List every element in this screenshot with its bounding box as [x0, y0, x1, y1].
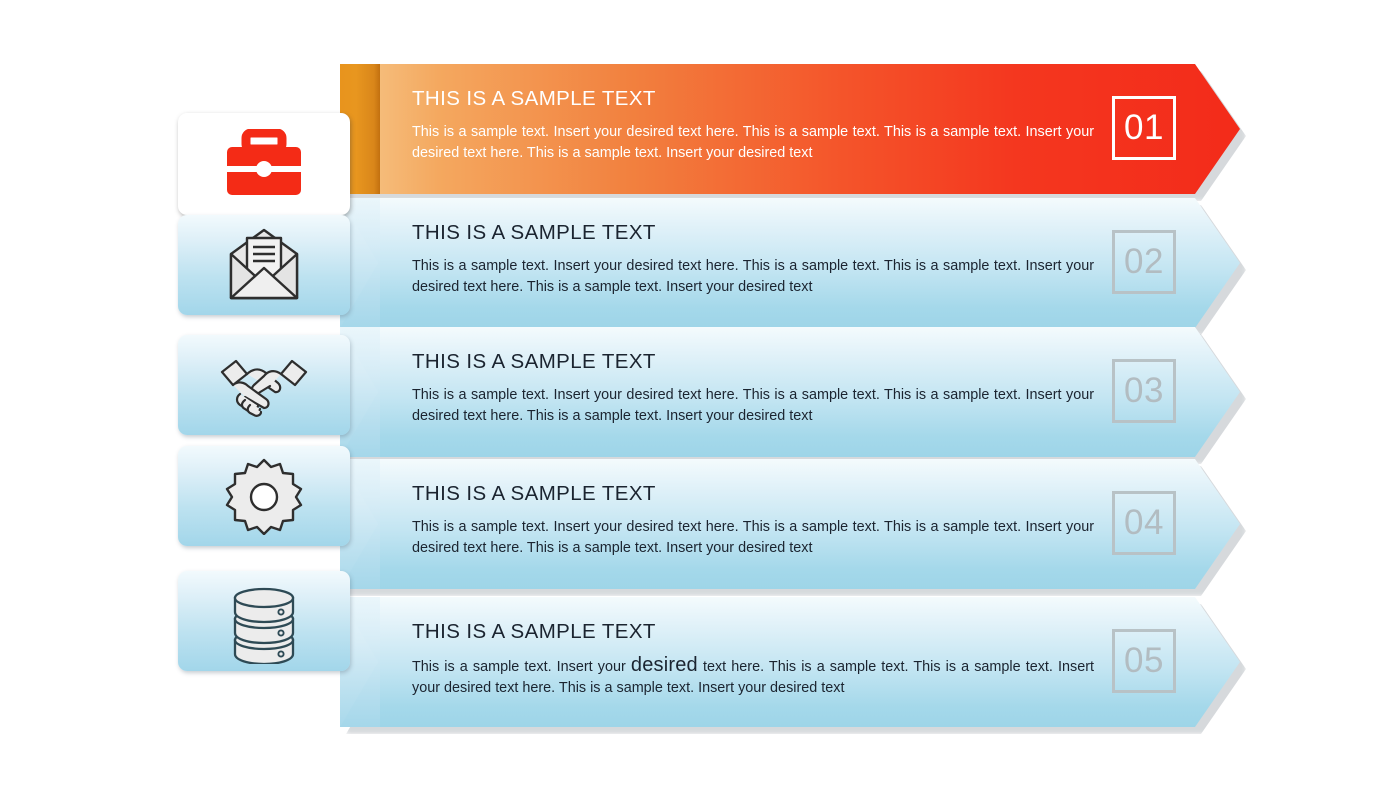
icon-tile-4[interactable] — [178, 446, 350, 546]
row-number-badge-2: 02 — [1112, 230, 1176, 294]
row-text-block-5: THIS IS A SAMPLE TEXT This is a sample t… — [412, 621, 1102, 699]
row-text-block-4: THIS IS A SAMPLE TEXT This is a sample t… — [412, 483, 1102, 559]
row-body-5-part1: This is a sample text. Insert your — [412, 659, 631, 675]
row-heading-5: THIS IS A SAMPLE TEXT — [412, 621, 1102, 644]
arrow-bar-1[interactable]: THIS IS A SAMPLE TEXT This is a sample t… — [340, 64, 1240, 194]
icon-tile-2[interactable] — [178, 215, 350, 315]
database-icon — [227, 578, 301, 664]
icon-tile-3[interactable] — [178, 335, 350, 435]
row-body-5: This is a sample text. Insert your desir… — [412, 655, 1094, 699]
arrow-bar-3[interactable]: THIS IS A SAMPLE TEXT This is a sample t… — [340, 327, 1240, 457]
row-heading-4: THIS IS A SAMPLE TEXT — [412, 483, 1102, 506]
arrow-bar-2[interactable]: THIS IS A SAMPLE TEXT This is a sample t… — [340, 198, 1240, 328]
icon-tile-1[interactable] — [178, 113, 350, 215]
row-heading-2: THIS IS A SAMPLE TEXT — [412, 222, 1102, 245]
row-body-4: This is a sample text. Insert your desir… — [412, 517, 1094, 559]
row-text-block-3: THIS IS A SAMPLE TEXT This is a sample t… — [412, 351, 1102, 427]
briefcase-icon — [221, 129, 307, 199]
row-number-badge-4: 04 — [1112, 491, 1176, 555]
arrow-bar-4[interactable]: THIS IS A SAMPLE TEXT This is a sample t… — [340, 459, 1240, 589]
row-heading-1: THIS IS A SAMPLE TEXT — [412, 88, 1102, 111]
row-body-1: This is a sample text. Insert your desir… — [412, 122, 1094, 164]
row-number-badge-1: 01 — [1112, 96, 1176, 160]
row-body-2: This is a sample text. Insert your desir… — [412, 256, 1094, 298]
row-body-5-emphasis: desired — [631, 654, 698, 676]
row-body-3: This is a sample text. Insert your desir… — [412, 385, 1094, 427]
row-heading-3: THIS IS A SAMPLE TEXT — [412, 351, 1102, 374]
row-number-badge-5: 05 — [1112, 629, 1176, 693]
row-text-block-2: THIS IS A SAMPLE TEXT This is a sample t… — [412, 222, 1102, 298]
handshake-icon — [214, 352, 314, 418]
slide-canvas: THIS IS A SAMPLE TEXT This is a sample t… — [0, 0, 1400, 788]
envelope-letter-icon — [221, 228, 307, 302]
arrow-bar-5[interactable]: THIS IS A SAMPLE TEXT This is a sample t… — [340, 597, 1240, 727]
icon-tile-5[interactable] — [178, 571, 350, 671]
gear-icon — [225, 457, 303, 535]
process-row-1[interactable]: THIS IS A SAMPLE TEXT This is a sample t… — [0, 56, 1400, 206]
process-row-5[interactable]: THIS IS A SAMPLE TEXT This is a sample t… — [0, 589, 1400, 739]
row-text-block-1: THIS IS A SAMPLE TEXT This is a sample t… — [412, 88, 1102, 164]
row-number-badge-3: 03 — [1112, 359, 1176, 423]
